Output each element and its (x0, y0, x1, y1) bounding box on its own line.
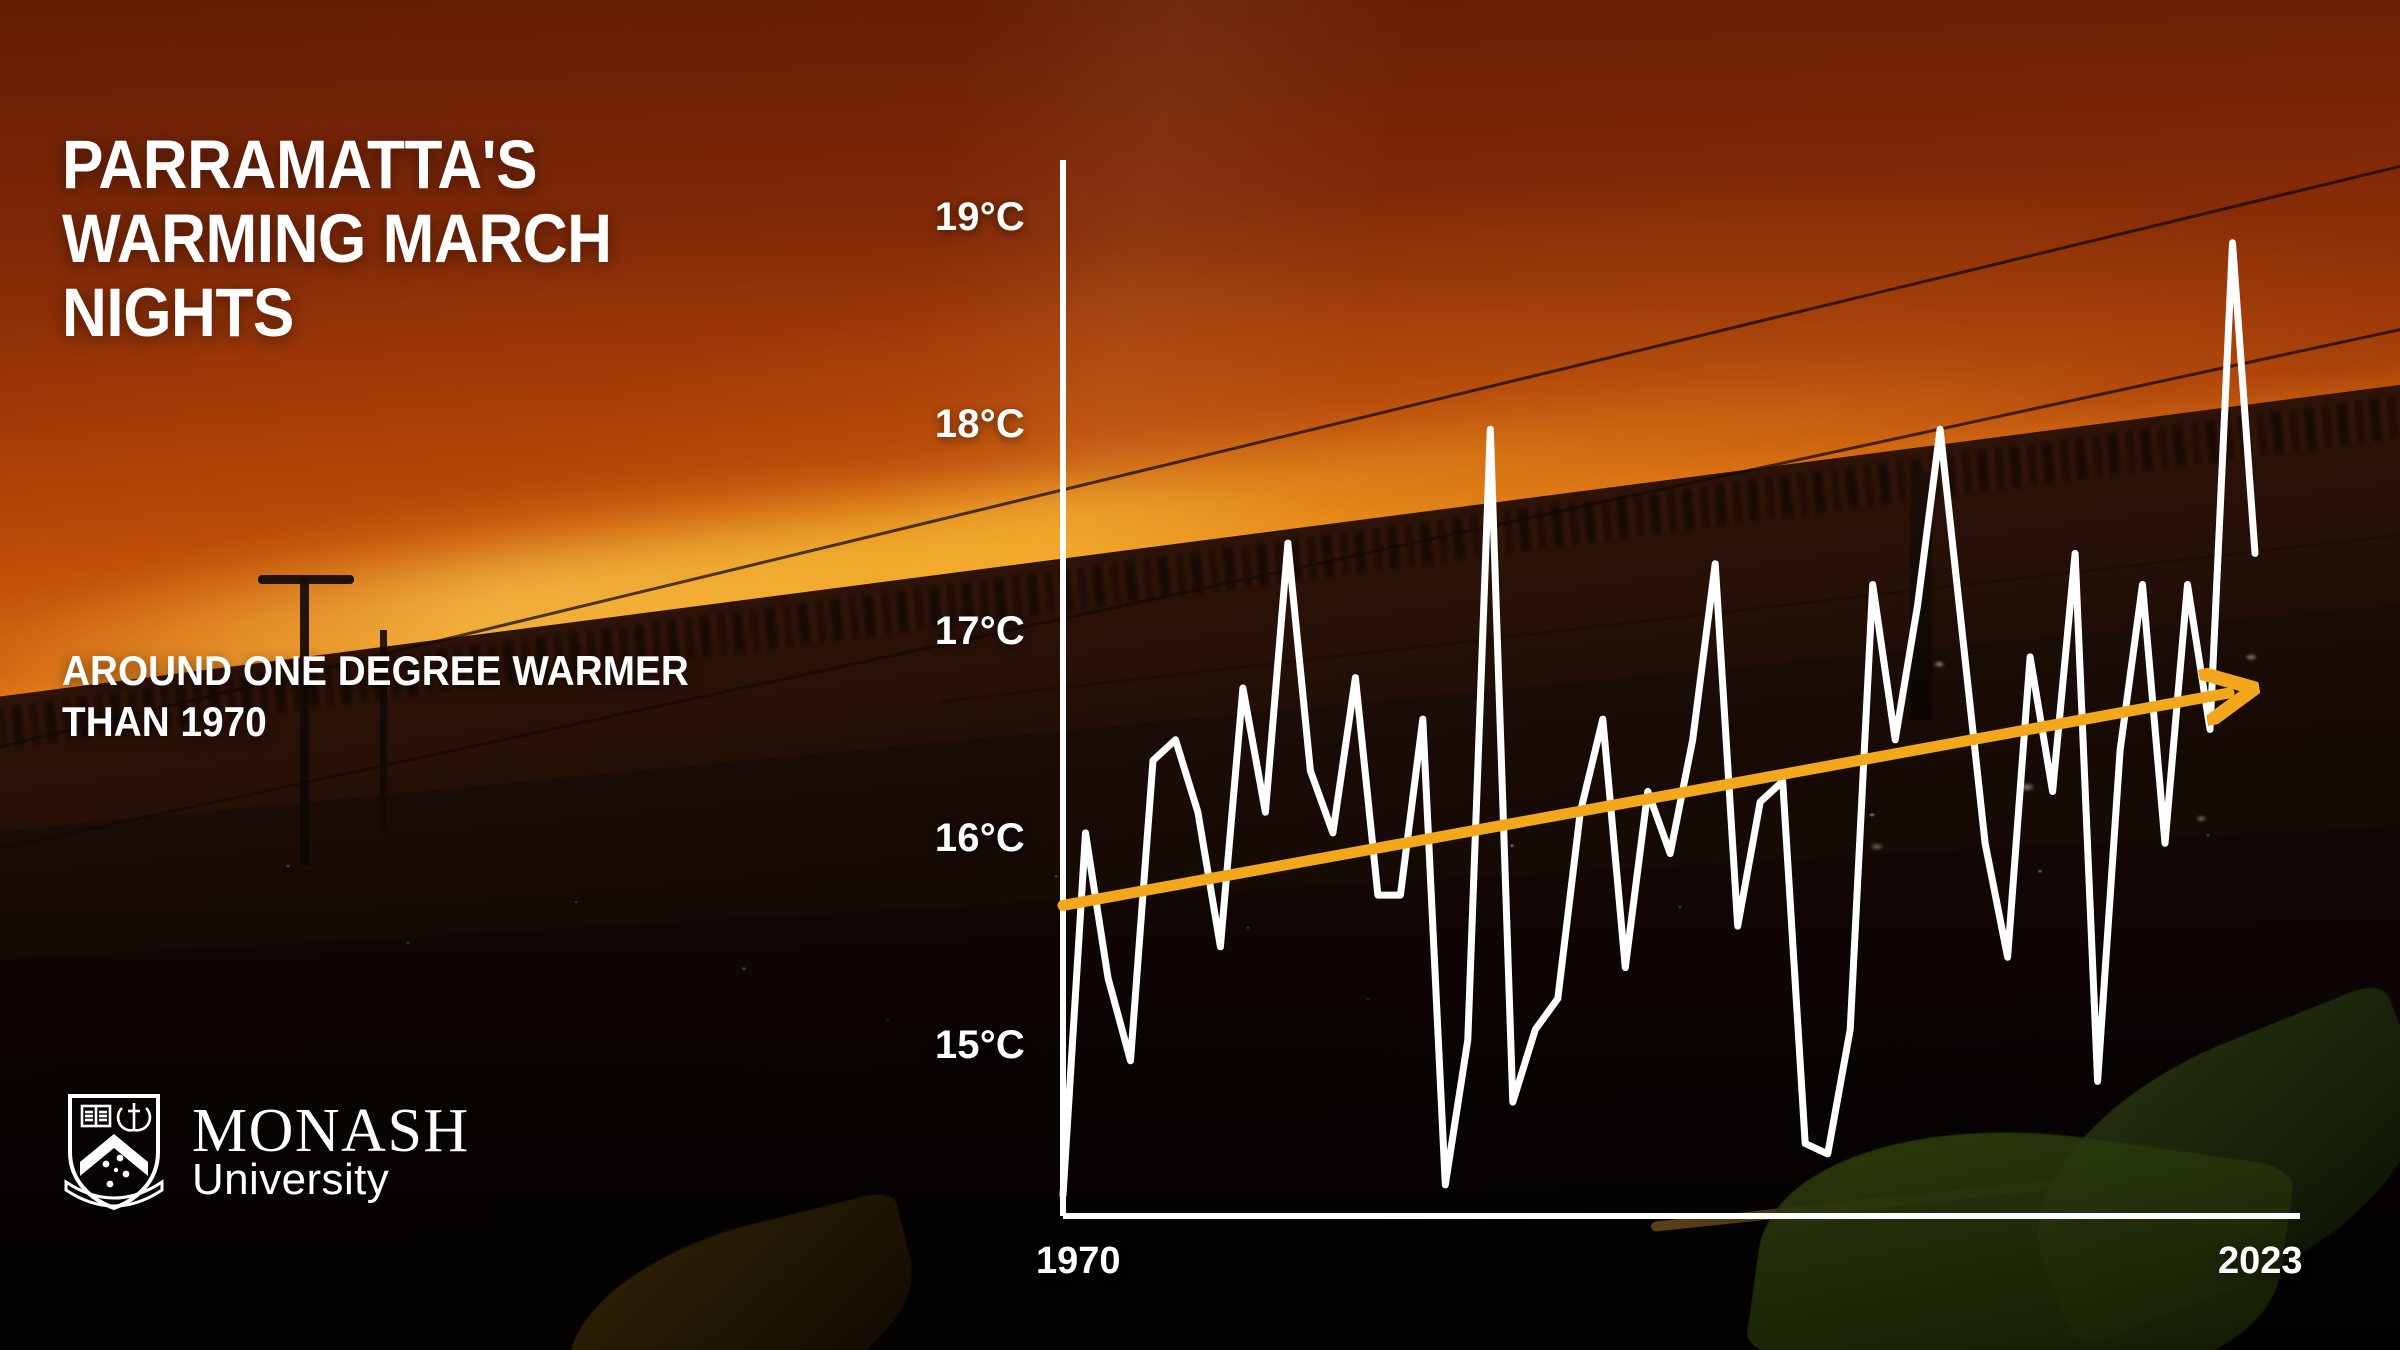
x-tick-label-start: 1970 (1036, 1240, 1121, 1283)
x-tick-label-end: 2023 (2218, 1240, 2303, 1283)
infographic-canvas: PARRAMATTA'S WARMING MARCH NIGHTS AROUND… (0, 0, 2400, 1350)
y-tick-label-18: 18°C (875, 402, 1025, 447)
chart-svg (0, 0, 2400, 1350)
y-tick-label-15: 15°C (875, 1023, 1025, 1068)
y-tick-label-17: 17°C (875, 609, 1025, 654)
y-tick-label-16: 16°C (875, 816, 1025, 861)
y-tick-label-19: 19°C (875, 195, 1025, 240)
temperature-chart: 19°C 18°C 17°C 16°C 15°C 1970 2023 (0, 0, 2400, 1350)
